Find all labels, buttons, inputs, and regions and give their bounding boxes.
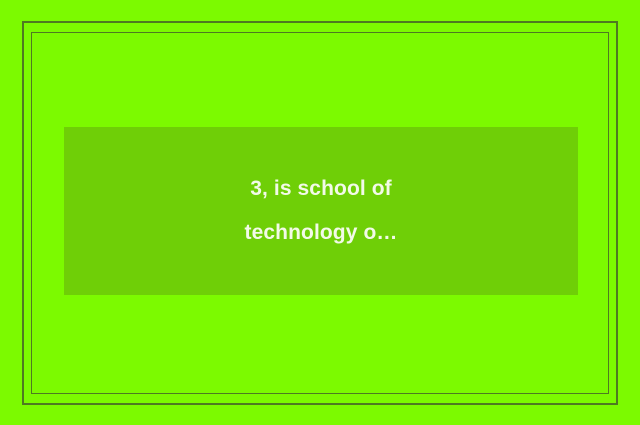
title-line-2: technology o… [88, 211, 554, 255]
slide-canvas: 3, is school of technology o… [0, 0, 640, 425]
slide-title: 3, is school of technology o… [64, 167, 578, 255]
title-line-1: 3, is school of [88, 167, 554, 211]
title-banner: 3, is school of technology o… [64, 127, 578, 295]
